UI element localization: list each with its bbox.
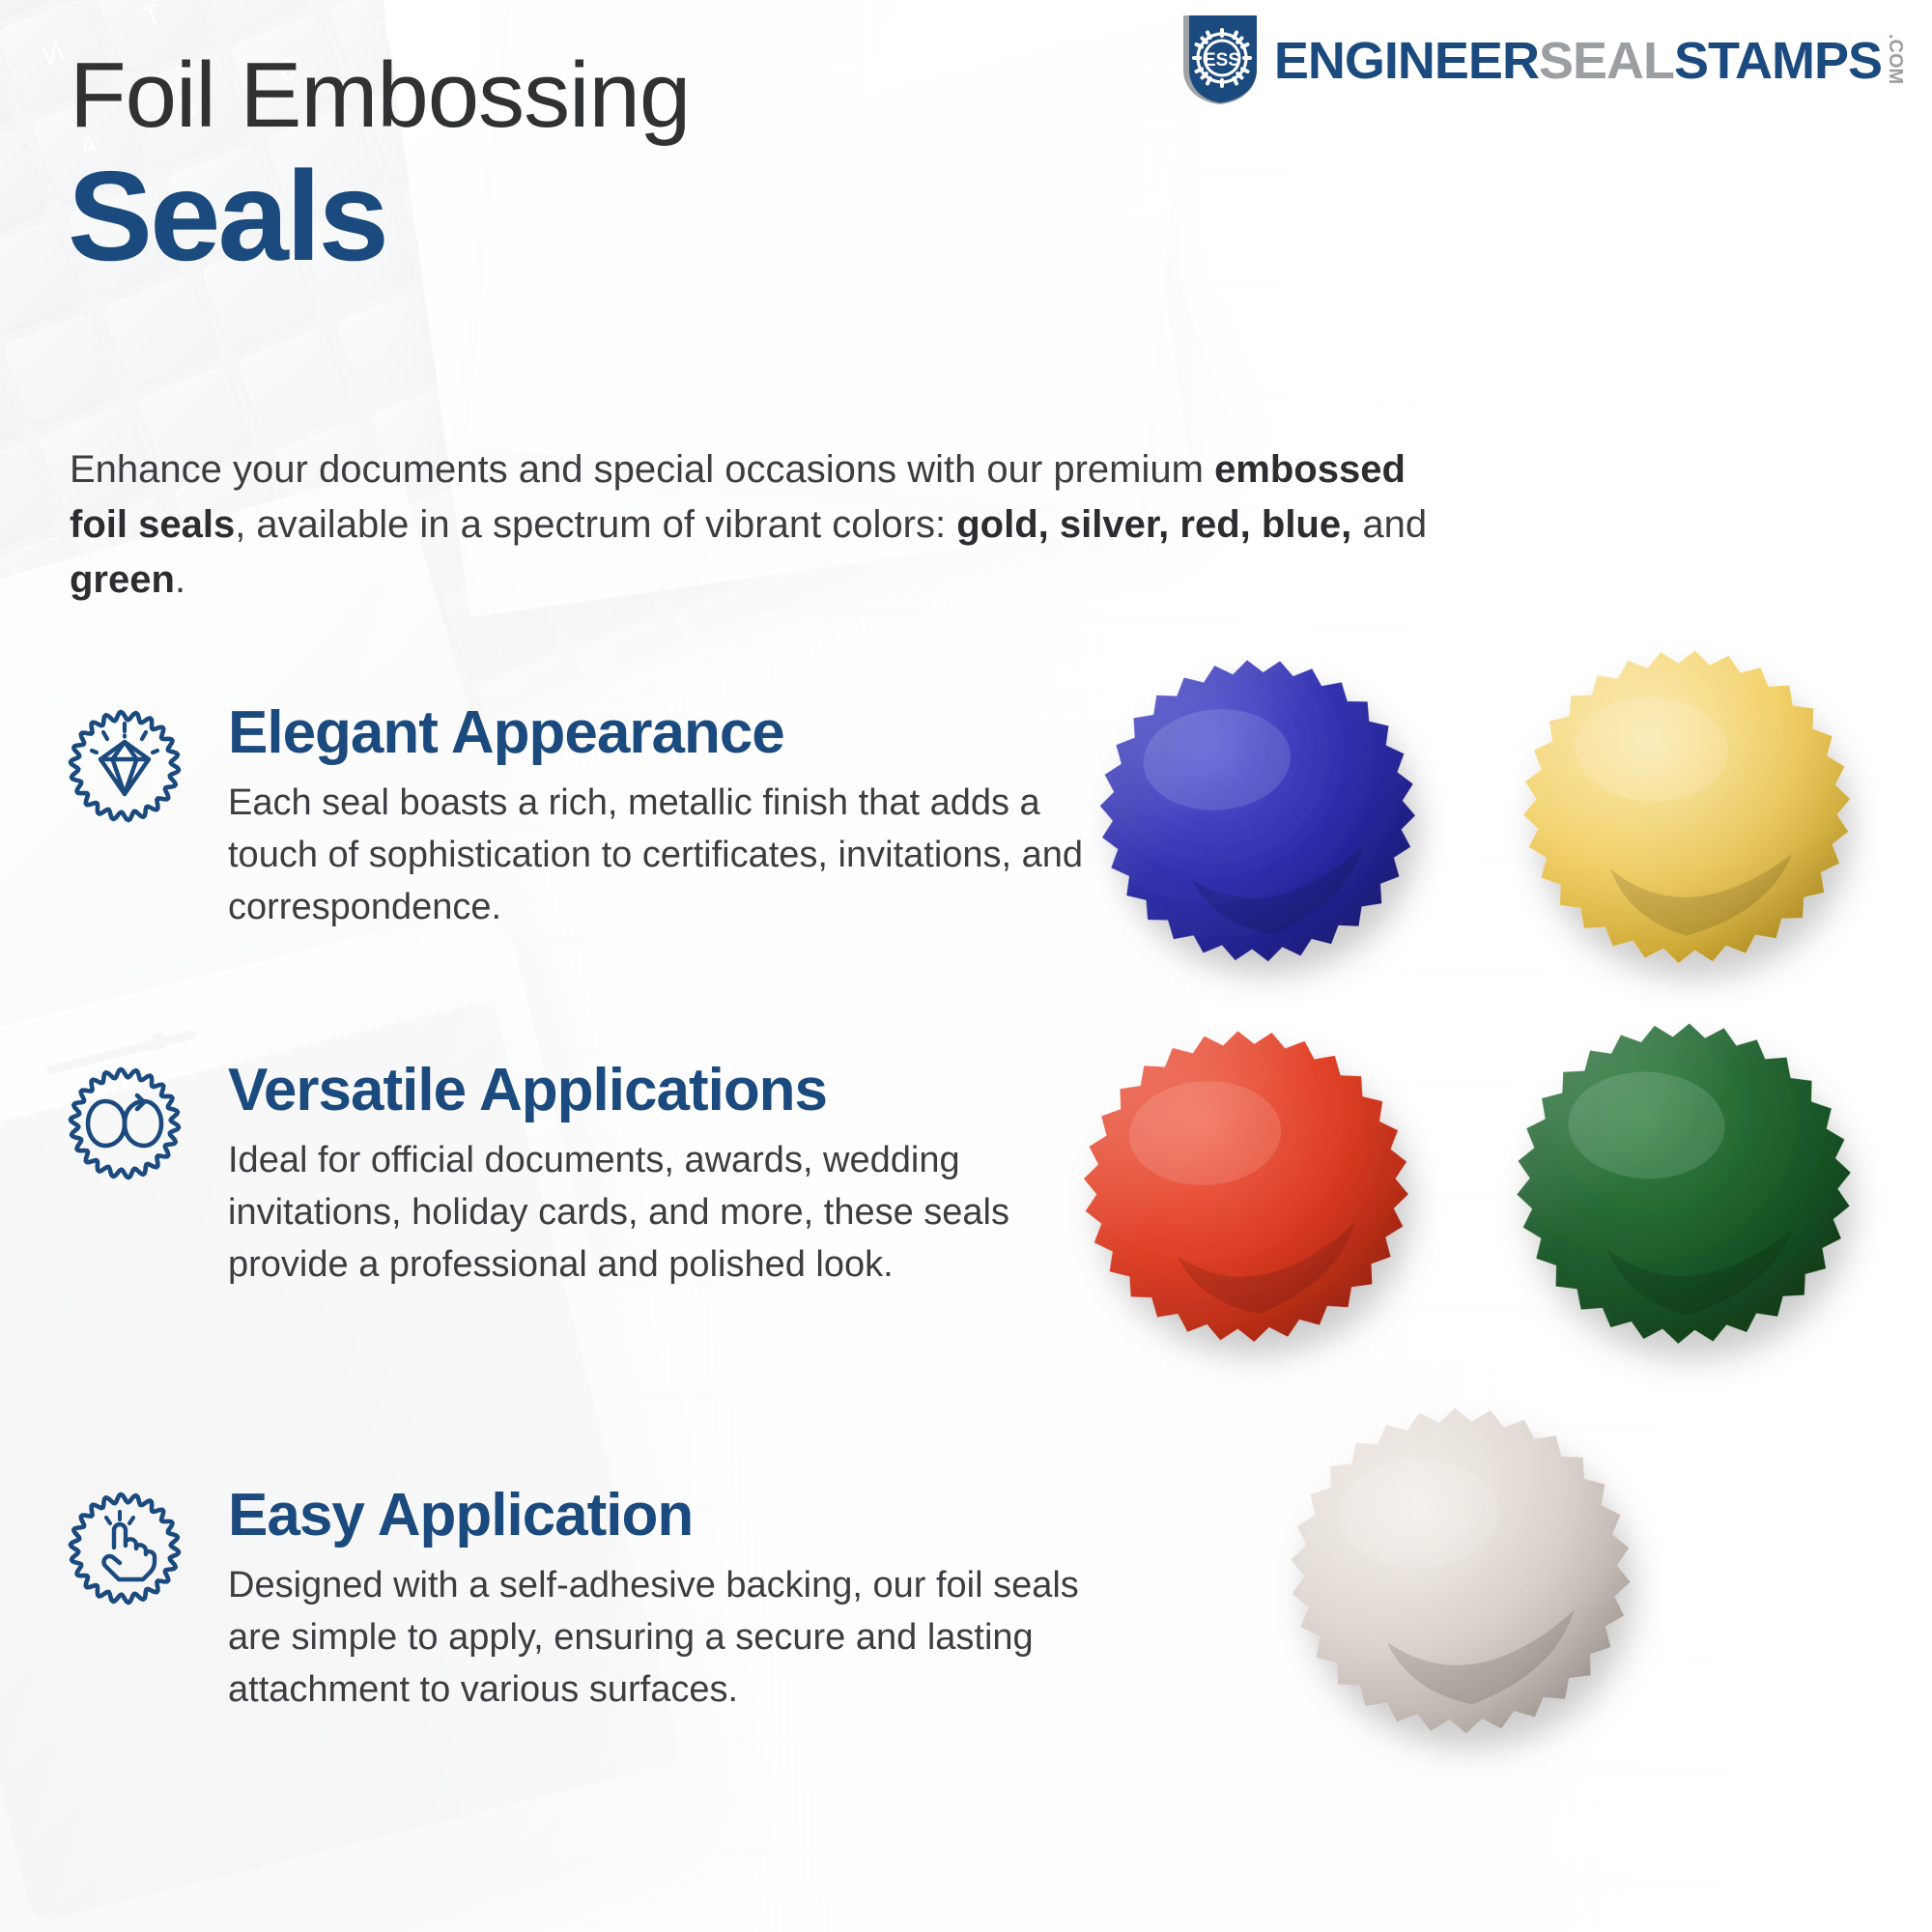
page-subtitle: Enhance your documents and special occas… — [70, 442, 1451, 607]
subtitle-part4: . — [175, 558, 185, 601]
seal-shape — [1058, 1014, 1434, 1361]
ess-gear-shield-icon: ESS — [1179, 14, 1261, 106]
brand-stamps: STAMPS — [1674, 37, 1882, 86]
feature-body: Versatile Applications Ideal for officia… — [228, 1059, 1088, 1292]
diamond-gem-icon — [64, 705, 185, 827]
logo-mark-text: ESS — [1204, 50, 1240, 71]
gold-foil-seal — [1494, 634, 1878, 982]
page-title-line1: Foil Embossing — [70, 43, 690, 149]
blue-foil-seal — [1069, 641, 1446, 984]
feature-body: Easy Application Designed with a self-ad… — [228, 1484, 1088, 1717]
page-content: ESS ENGINEERSEALSTAMPS .COM Foil Embossi… — [0, 0, 1932, 1932]
feature-body: Elegant Appearance Each seal boasts a ri… — [228, 701, 1088, 934]
seal-shape — [1494, 634, 1878, 982]
brand-seal: SEAL — [1539, 37, 1674, 86]
brand-engineer: ENGINEER — [1274, 37, 1539, 86]
page-title-line2: Seals — [68, 143, 386, 289]
feature-title: Elegant Appearance — [228, 701, 1088, 764]
subtitle-part2: , available in a spectrum of vibrant col… — [235, 503, 956, 546]
brand-tld: .COM — [1886, 34, 1905, 84]
brand-logo[interactable]: ESS ENGINEERSEALSTAMPS .COM — [1179, 14, 1905, 106]
silver-foil-seal — [1267, 1394, 1654, 1750]
infinity-loop-arrow-icon — [64, 1063, 185, 1184]
green-foil-seal — [1493, 1009, 1874, 1360]
red-foil-seal — [1058, 1014, 1434, 1361]
feature-description: Designed with a self-adhesive backing, o… — [228, 1560, 1088, 1717]
feature-title: Versatile Applications — [228, 1059, 1088, 1122]
feature-description: Ideal for official documents, awards, we… — [228, 1135, 1088, 1292]
feature-title: Easy Application — [228, 1484, 1088, 1547]
subtitle-bold-colors: gold, silver, red, blue, — [956, 503, 1351, 546]
seal-shape — [1069, 641, 1446, 984]
subtitle-part3: and — [1351, 503, 1427, 546]
subtitle-bold-green: green — [70, 558, 175, 601]
seal-shape — [1493, 1009, 1874, 1360]
seal-shape — [1267, 1394, 1654, 1750]
feature-easy-application: Easy Application Designed with a self-ad… — [64, 1484, 1088, 1717]
feature-description: Each seal boasts a rich, metallic finish… — [228, 778, 1088, 934]
feature-versatile-applications: Versatile Applications Ideal for officia… — [64, 1059, 1088, 1292]
brand-wordmark: ENGINEERSEALSTAMPS .COM — [1274, 34, 1905, 86]
feature-elegant-appearance: Elegant Appearance Each seal boasts a ri… — [64, 701, 1088, 934]
subtitle-part1: Enhance your documents and special occas… — [70, 448, 1214, 491]
scalloped-badge-border — [71, 1494, 179, 1603]
pointing-hand-tap-icon — [64, 1488, 185, 1609]
